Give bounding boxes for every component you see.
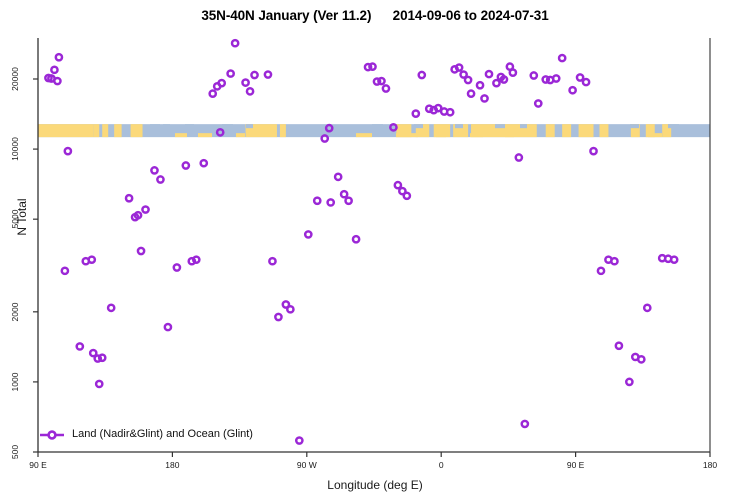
coastline-detail [520,124,527,128]
data-point [219,80,225,86]
data-point [353,236,359,242]
data-point [577,74,583,80]
data-point [486,71,492,77]
data-series-land-ocean [45,40,677,444]
coastline-detail [372,124,383,128]
data-point [644,305,650,311]
data-point [157,176,163,182]
legend[interactable] [40,432,64,439]
data-point [413,111,419,117]
y-tick-label-5: 20000 [10,64,20,94]
x-tick-label-3: 0 [439,460,444,470]
x-tick-label-2: 90 W [297,460,317,470]
data-point [56,54,62,60]
land-segment [131,124,143,137]
data-point [616,343,622,349]
data-point [77,343,83,349]
coastline-detail [150,124,160,128]
data-point [54,78,60,84]
data-point [341,191,347,197]
y-tick-label-3: 5000 [10,204,20,234]
data-point [126,195,132,201]
title-date-range: 2014-09-06 to 2024-07-31 [393,8,549,23]
data-point [265,71,271,77]
data-point [96,381,102,387]
x-tick-label-0: 90 E [29,460,47,470]
data-point [228,70,234,76]
y-tick-label-2: 2000 [10,297,20,327]
data-point [465,77,471,83]
data-point [590,148,596,154]
data-point [638,356,644,362]
coastline-detail [396,133,418,137]
data-point [671,257,677,263]
title-main: 35N-40N January (Ver 11.2) [201,8,371,23]
data-point [142,206,148,212]
y-tick-label-4: 10000 [10,134,20,164]
coastline-detail [175,133,187,137]
data-point [232,40,238,46]
coastline-detail [222,124,233,129]
coastline-detail [356,133,372,137]
coastline-detail [630,124,639,128]
data-point [383,85,389,91]
data-point [510,70,516,76]
scatter-plot-figure: 35N-40N January (Ver 11.2) 2014-09-06 to… [0,0,750,500]
data-point [404,193,410,199]
axes-frame [33,38,710,457]
data-point [346,198,352,204]
data-point [535,100,541,106]
land-segment [579,124,594,137]
land-segment [546,124,555,137]
page-title: 35N-40N January (Ver 11.2) 2014-09-06 to… [0,8,750,23]
data-point [314,198,320,204]
land-segment [562,124,571,137]
data-point [65,148,71,154]
x-tick-label-5: 180 [703,460,717,470]
data-point [62,268,68,274]
coastline-detail [495,124,505,128]
land-segment [114,124,121,137]
data-point [335,174,341,180]
land-segment [599,124,608,137]
x-axis-label: Longitude (deg E) [0,478,750,492]
data-point [108,305,114,311]
data-point [493,80,499,86]
data-point [138,248,144,254]
coastline-detail [470,133,483,137]
data-point [583,79,589,85]
data-point [559,55,565,61]
data-point [99,355,105,361]
data-point [165,324,171,330]
data-point [456,64,462,70]
coastline-detail [246,124,253,128]
data-point [447,109,453,115]
y-tick-label-1: 1000 [10,367,20,397]
coastline-detail [198,133,212,137]
plot-canvas [0,0,750,500]
data-point [378,78,384,84]
data-point [201,160,207,166]
data-point [51,67,57,73]
land-ocean-map-band [38,124,710,137]
data-point [522,421,528,427]
data-point [210,91,216,97]
land-segment [93,124,99,137]
coastline-detail [668,124,679,128]
data-point [395,182,401,188]
data-point [269,258,275,264]
data-point [305,231,311,237]
data-point [477,82,483,88]
y-tick-label-0: 500 [10,437,20,467]
data-point [193,257,199,263]
coastline-detail [163,124,170,128]
x-tick-label-1: 180 [165,460,179,470]
data-point [242,80,248,86]
data-point [151,167,157,173]
legend-label: Land (Nadir&Glint) and Ocean (Glint) [72,428,253,440]
coastline-detail [414,124,423,128]
data-point [322,135,328,141]
data-point [570,87,576,93]
data-point [468,91,474,97]
coastline-detail [505,133,514,137]
data-point [553,75,559,81]
data-point [481,95,487,101]
coastline-detail [185,124,194,129]
land-segment [280,124,286,137]
data-point [183,162,189,168]
data-point [251,72,257,78]
coastline-detail [648,133,662,137]
data-point [598,268,604,274]
coastline-detail [236,133,245,137]
land-segment [38,124,93,137]
data-point [626,379,632,385]
data-point [611,258,617,264]
data-point [419,72,425,78]
coastline-detail [436,133,446,137]
data-point [516,154,522,160]
data-point [328,199,334,205]
coastline-detail [455,124,463,128]
data-point [275,314,281,320]
data-point [531,72,537,78]
data-point [247,88,253,94]
data-point [174,264,180,270]
x-tick-label-4: 90 E [567,460,585,470]
land-segment [102,124,108,137]
data-point [369,64,375,70]
legend-marker-icon [49,432,56,439]
data-point [287,306,293,312]
data-point [296,437,302,443]
data-point [89,257,95,263]
